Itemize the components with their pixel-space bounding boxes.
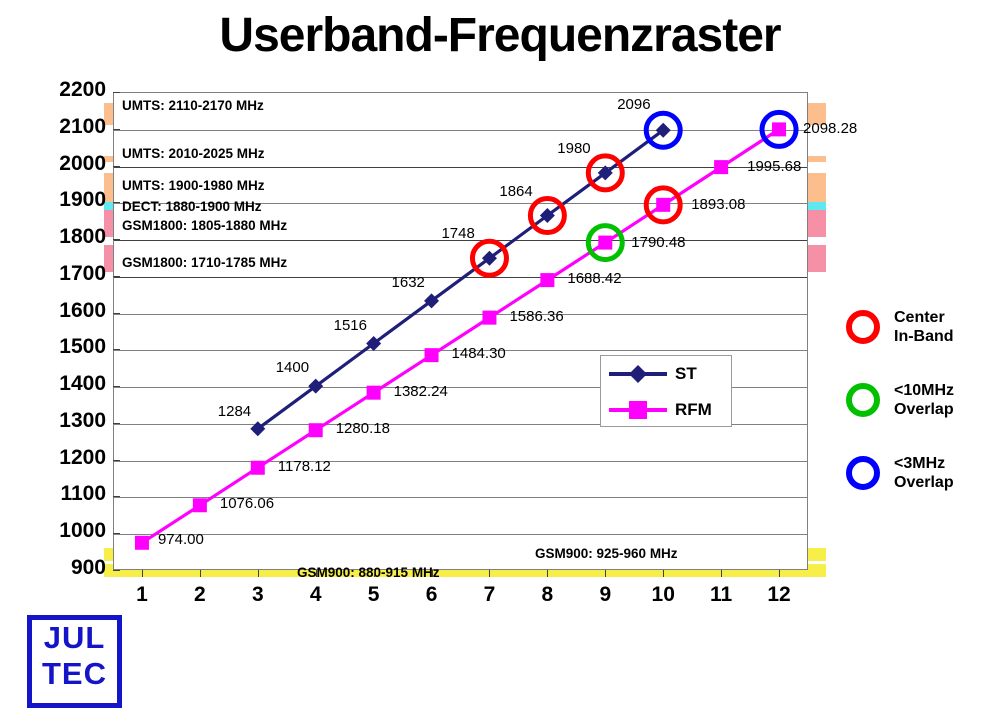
y-axis-tick-mark bbox=[113, 92, 120, 93]
x-axis-tick-mark bbox=[374, 570, 375, 577]
y-axis-tick-label: 1800 bbox=[36, 225, 106, 249]
y-axis-tick-mark bbox=[113, 386, 120, 387]
band-label: UMTS: 2110-2170 MHz bbox=[122, 98, 264, 113]
y-axis-tick-mark bbox=[113, 276, 120, 277]
point-value-label: 1284 bbox=[218, 403, 251, 420]
x-axis-tick-label: 8 bbox=[527, 583, 567, 607]
annotation-key-label-line2: Overlap bbox=[894, 400, 954, 419]
grid-line bbox=[114, 167, 807, 168]
grid-line bbox=[114, 497, 807, 498]
legend-row-st: ST bbox=[601, 356, 731, 392]
logo-line-1: JUL bbox=[32, 620, 117, 656]
point-value-label: 1632 bbox=[392, 274, 425, 291]
x-axis-tick-label: 4 bbox=[296, 583, 336, 607]
point-value-label: 1688.42 bbox=[567, 270, 621, 287]
point-value-label: 1893.08 bbox=[691, 196, 745, 213]
band-label: UMTS: 1900-1980 MHz bbox=[122, 178, 265, 193]
y-axis-tick-mark bbox=[113, 166, 120, 167]
x-axis-tick-label: 9 bbox=[585, 583, 625, 607]
x-axis-tick-mark bbox=[663, 570, 664, 577]
y-axis-tick-label: 1100 bbox=[36, 482, 106, 506]
band-label: GSM1800: 1710-1785 MHz bbox=[122, 255, 287, 270]
x-axis-tick-label: 11 bbox=[701, 583, 741, 607]
point-value-label: 1980 bbox=[557, 140, 590, 157]
annotation-key-label-line1: Center bbox=[894, 308, 954, 327]
chart-canvas: Userband-Frequenzraster UMTS: 2110-2170 … bbox=[0, 0, 1000, 720]
annotation-key-label-line1: <10MHz bbox=[894, 381, 954, 400]
y-axis-tick-label: 2100 bbox=[36, 115, 106, 139]
y-axis-tick-label: 1500 bbox=[36, 335, 106, 359]
x-axis-tick-label: 3 bbox=[238, 583, 278, 607]
x-axis-tick-label: 6 bbox=[412, 583, 452, 607]
y-axis-tick-label: 1000 bbox=[36, 519, 106, 543]
band-label: UMTS: 2010-2025 MHz bbox=[122, 146, 265, 161]
annotation-key-ring-icon bbox=[846, 310, 880, 344]
y-axis-tick-mark bbox=[113, 423, 120, 424]
annotation-key-label-line2: Overlap bbox=[894, 473, 954, 492]
y-axis-tick-mark bbox=[113, 533, 120, 534]
point-value-label: 974.00 bbox=[158, 531, 204, 548]
band-label: GSM900: 925-960 MHz bbox=[535, 546, 678, 561]
y-axis-tick-label: 1400 bbox=[36, 372, 106, 396]
grid-line bbox=[114, 277, 807, 278]
x-axis-tick-label: 1 bbox=[122, 583, 162, 607]
point-value-label: 1864 bbox=[499, 183, 532, 200]
y-axis-tick-mark bbox=[113, 129, 120, 130]
x-axis-tick-mark bbox=[200, 570, 201, 577]
y-axis-tick-mark bbox=[113, 570, 120, 571]
point-value-label: 1280.18 bbox=[336, 420, 390, 437]
x-axis-tick-mark bbox=[432, 570, 433, 577]
y-axis-tick-label: 1200 bbox=[36, 446, 106, 470]
y-axis-tick-mark bbox=[113, 202, 120, 203]
point-value-label: 1748 bbox=[441, 225, 474, 242]
point-value-label: 1586.36 bbox=[509, 308, 563, 325]
x-axis-tick-mark bbox=[779, 570, 780, 577]
grid-line bbox=[114, 130, 807, 131]
grid-line bbox=[114, 534, 807, 535]
x-axis-tick-mark bbox=[605, 570, 606, 577]
x-axis-tick-mark bbox=[316, 570, 317, 577]
y-axis-tick-label: 1600 bbox=[36, 299, 106, 323]
point-value-label: 1484.30 bbox=[452, 345, 506, 362]
x-axis-tick-mark bbox=[142, 570, 143, 577]
y-axis-tick-label: 900 bbox=[36, 556, 106, 580]
x-axis-tick-label: 12 bbox=[759, 583, 799, 607]
series-legend[interactable]: ST RFM bbox=[600, 355, 732, 427]
y-axis-tick-mark bbox=[113, 239, 120, 240]
x-axis-tick-label: 5 bbox=[354, 583, 394, 607]
x-axis-tick-mark bbox=[547, 570, 548, 577]
point-value-label: 1382.24 bbox=[394, 383, 448, 400]
annotation-key-ring-icon bbox=[846, 456, 880, 490]
band-label: GSM1800: 1805-1880 MHz bbox=[122, 218, 287, 233]
y-axis-tick-label: 1700 bbox=[36, 262, 106, 286]
annotation-key-ring-icon bbox=[846, 383, 880, 417]
y-axis-tick-label: 1300 bbox=[36, 409, 106, 433]
point-value-label: 1790.48 bbox=[631, 234, 685, 251]
x-axis-tick-label: 7 bbox=[469, 583, 509, 607]
y-axis-tick-mark bbox=[113, 496, 120, 497]
point-value-label: 2096 bbox=[617, 96, 650, 113]
point-value-label: 1995.68 bbox=[747, 158, 801, 175]
jultec-logo: JUL TEC bbox=[27, 615, 122, 708]
y-axis-tick-label: 2200 bbox=[36, 78, 106, 102]
annotation-key-label: <3MHzOverlap bbox=[894, 454, 954, 492]
grid-line bbox=[114, 314, 807, 315]
point-value-label: 1178.12 bbox=[278, 458, 331, 475]
y-axis-tick-label: 1900 bbox=[36, 188, 106, 212]
point-value-label: 1400 bbox=[276, 359, 309, 376]
point-value-label: 2098.28 bbox=[803, 120, 857, 137]
y-axis-tick-mark bbox=[113, 313, 120, 314]
annotation-key-label: <10MHzOverlap bbox=[894, 381, 954, 419]
x-axis-tick-mark bbox=[489, 570, 490, 577]
annotation-key-label-line1: <3MHz bbox=[894, 454, 954, 473]
annotation-key-label-line2: In-Band bbox=[894, 327, 954, 346]
legend-label-rfm: RFM bbox=[675, 400, 712, 420]
point-value-label: 1516 bbox=[334, 317, 367, 334]
y-axis-tick-mark bbox=[113, 460, 120, 461]
legend-row-rfm: RFM bbox=[601, 392, 731, 428]
legend-label-st: ST bbox=[675, 364, 697, 384]
point-value-label: 1076.06 bbox=[220, 495, 274, 512]
annotation-key-label: CenterIn-Band bbox=[894, 308, 954, 346]
band-label: DECT: 1880-1900 MHz bbox=[122, 199, 262, 214]
page-title: Userband-Frequenzraster bbox=[0, 8, 1000, 63]
x-axis-tick-mark bbox=[258, 570, 259, 577]
legend-marker-st bbox=[601, 356, 675, 392]
plot-area bbox=[113, 92, 808, 570]
band-label: GSM900: 880-915 MHz bbox=[297, 565, 440, 580]
legend-marker-rfm bbox=[601, 392, 675, 428]
x-axis-tick-mark bbox=[721, 570, 722, 577]
logo-line-2: TEC bbox=[32, 656, 117, 692]
y-axis-tick-mark bbox=[113, 349, 120, 350]
x-axis-tick-label: 2 bbox=[180, 583, 220, 607]
grid-line bbox=[114, 461, 807, 462]
x-axis-tick-label: 10 bbox=[643, 583, 683, 607]
y-axis-tick-label: 2000 bbox=[36, 152, 106, 176]
